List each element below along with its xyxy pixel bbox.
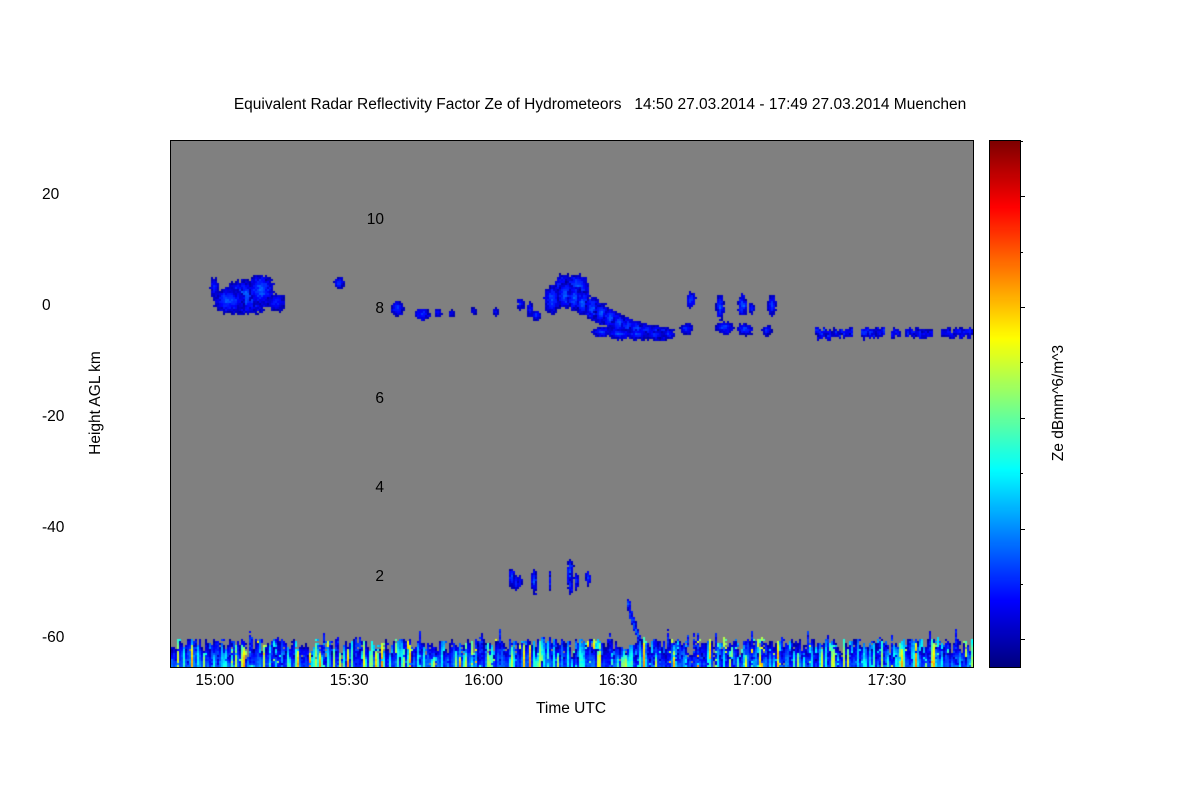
x-axis-label: Time UTC xyxy=(536,700,606,718)
colorbar-tick xyxy=(1020,529,1025,530)
colorbar-tick xyxy=(1020,473,1023,474)
x-axis-tick-label: 17:30 xyxy=(867,672,906,690)
y-axis-tick-label: 10 xyxy=(367,211,384,229)
x-axis-tick-label: 16:00 xyxy=(464,672,503,690)
y-axis-tick-label: 2 xyxy=(375,568,384,586)
colorbar-tick-label: -60 xyxy=(42,629,64,647)
colorbar-tick-label: 0 xyxy=(42,297,51,315)
colorbar-tick xyxy=(1020,362,1023,363)
y-axis-tick-label: 6 xyxy=(375,390,384,408)
colorbar-tick xyxy=(1020,639,1025,640)
y-axis-tick-label: 4 xyxy=(375,479,384,497)
colorbar-tick xyxy=(1020,141,1023,142)
colorbar-tick-label: -20 xyxy=(42,408,64,426)
x-axis-tick-label: 15:30 xyxy=(330,672,369,690)
x-axis-tick-label: 17:00 xyxy=(733,672,772,690)
y-axis-label: Height AGL km xyxy=(87,351,105,455)
colorbar-tick xyxy=(1020,196,1025,197)
plot-area xyxy=(170,140,974,668)
radar-reflectivity-heatmap xyxy=(171,141,973,667)
colorbar-tick-label: 20 xyxy=(42,186,59,204)
colorbar-gradient xyxy=(990,141,1020,667)
colorbar xyxy=(989,140,1021,668)
x-axis-tick-label: 16:30 xyxy=(599,672,638,690)
page-title: Equivalent Radar Reflectivity Factor Ze … xyxy=(0,96,1200,114)
radar-figure: Equivalent Radar Reflectivity Factor Ze … xyxy=(0,0,1200,800)
colorbar-label: Ze dBmm^6/m^3 xyxy=(1050,345,1068,461)
colorbar-tick xyxy=(1020,307,1025,308)
colorbar-tick xyxy=(1020,418,1025,419)
colorbar-tick xyxy=(1020,252,1023,253)
x-axis-tick-label: 15:00 xyxy=(195,672,234,690)
y-axis-tick-label: 8 xyxy=(375,300,384,318)
colorbar-tick-label: -40 xyxy=(42,519,64,537)
colorbar-tick xyxy=(1020,584,1023,585)
